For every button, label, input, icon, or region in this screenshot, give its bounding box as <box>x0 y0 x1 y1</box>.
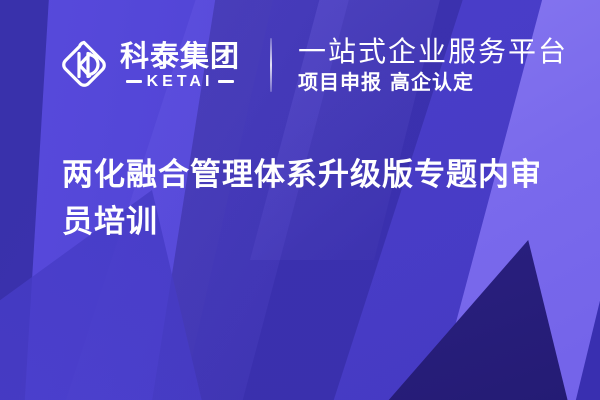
slogan-primary: 一站式企业服务平台 <box>298 36 568 67</box>
logo-wordmark: 科泰集团 KETAI <box>120 41 240 90</box>
logo-dash-right-icon <box>218 80 234 83</box>
promotional-banner: 科泰集团 KETAI 一站式企业服务平台 项目申报 高企认定 两化融合管理体系升… <box>0 0 600 400</box>
ketai-monogram-icon <box>58 39 110 91</box>
page-title: 两化融合管理体系升级版专题内审员培训 <box>62 152 552 246</box>
slogan-secondary: 项目申报 高企认定 <box>298 71 568 94</box>
slogan-block: 一站式企业服务平台 项目申报 高企认定 <box>298 36 568 94</box>
logo-company-name-en: KETAI <box>147 74 214 90</box>
logo-dash-left-icon <box>126 80 142 83</box>
banner-header: 科泰集团 KETAI 一站式企业服务平台 项目申报 高企认定 <box>58 36 568 94</box>
header-divider <box>270 38 272 92</box>
logo-company-name-en-row: KETAI <box>120 74 240 90</box>
logo-company-name-cn: 科泰集团 <box>120 41 240 71</box>
banner-content: 科泰集团 KETAI 一站式企业服务平台 项目申报 高企认定 两化融合管理体系升… <box>0 0 600 400</box>
company-logo: 科泰集团 KETAI <box>58 39 240 91</box>
